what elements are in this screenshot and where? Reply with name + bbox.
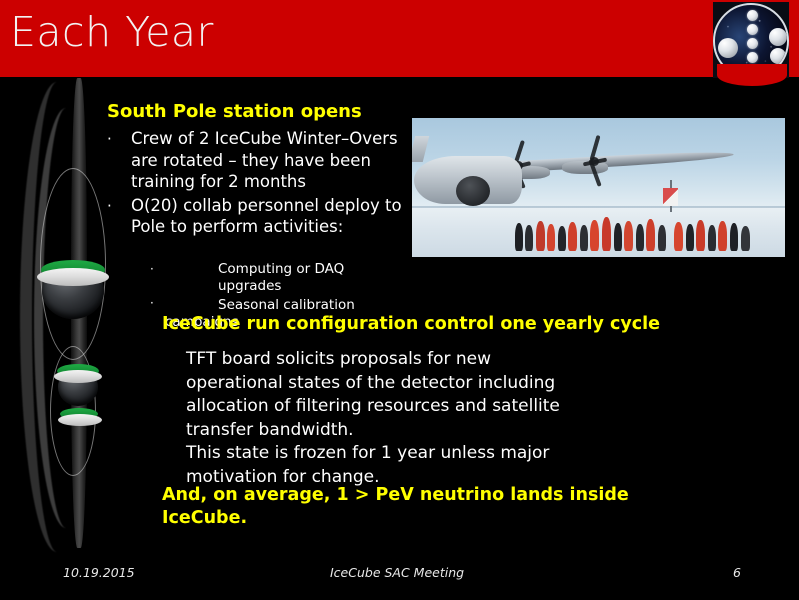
paragraph-line: operational states of the detector inclu… <box>186 372 616 396</box>
marker-flag <box>663 188 678 206</box>
sub-bullet-dot-icon: · <box>150 295 154 312</box>
crowd-person <box>718 221 727 251</box>
crowd-person <box>536 221 545 251</box>
logo-dom-bead <box>747 24 758 35</box>
logo-dom-bead <box>747 38 758 49</box>
closing-line: And, on average, 1 > PeV neutrino lands … <box>162 484 672 507</box>
bullet-list: · Crew of 2 IceCube Winter–Overs are rot… <box>105 128 405 240</box>
crowd-person <box>674 222 683 251</box>
crowd-person <box>730 223 738 251</box>
crowd-person <box>590 220 599 251</box>
closing-statement: And, on average, 1 > PeV neutrino lands … <box>162 484 672 530</box>
crowd-person <box>741 226 750 251</box>
sub-bullet-item: · Computing or DAQ upgrades <box>148 261 408 295</box>
closing-line: IceCube. <box>162 507 672 530</box>
crowd-person <box>568 222 577 251</box>
heading-south-pole-station: South Pole station opens <box>107 101 362 122</box>
bullet-dot-icon: · <box>107 196 112 217</box>
dom-collar-mid <box>54 370 102 383</box>
bullet-item: · O(20) collab personnel deploy to Pole … <box>105 195 405 238</box>
sub-bullet-item: · Seasonal calibration <box>148 295 408 314</box>
logo-swoosh <box>717 64 787 86</box>
dom-collar-lower <box>58 414 102 426</box>
crowd-person <box>558 226 566 251</box>
logo-dom-bead <box>747 10 758 21</box>
sub-bullet-dot-icon: · <box>150 261 154 278</box>
crowd-person <box>515 223 523 251</box>
crowd-person <box>696 220 705 251</box>
crowd-person <box>646 219 655 251</box>
sub-bullet-label: Computing or DAQ upgrades <box>218 261 408 295</box>
logo-dom-large <box>718 38 738 58</box>
logo-dom-large <box>770 48 786 64</box>
paragraph-line: allocation of filtering resources and sa… <box>186 395 616 419</box>
sub-bullet-label: Seasonal calibration <box>218 297 355 314</box>
crowd-person <box>708 225 716 251</box>
crowd-person <box>624 221 633 251</box>
footer-page-number: 6 <box>733 565 741 580</box>
footer-date: 10.19.2015 <box>63 565 135 580</box>
logo-dom-bead <box>747 52 758 63</box>
paragraph-line: This state is frozen for 1 year unless m… <box>186 442 616 466</box>
icecube-logo <box>707 2 795 86</box>
dom-collar-upper <box>37 268 109 286</box>
bullet-dot-icon: · <box>107 129 112 150</box>
aircraft-nose <box>456 176 490 206</box>
crowd-person <box>602 217 611 251</box>
slide: Each Year South Pole stati <box>0 0 799 600</box>
paragraph-tft-board: TFT board solicits proposals for new ope… <box>186 348 616 489</box>
bullet-label: Crew of 2 IceCube Winter–Overs are rotat… <box>131 129 398 191</box>
crowd-person <box>580 225 588 251</box>
paragraph-line: TFT board solicits proposals for new <box>186 348 616 372</box>
bullet-label: O(20) collab personnel deploy to Pole to… <box>131 196 402 237</box>
crowd-person <box>686 224 694 251</box>
photo-horizon <box>412 206 785 208</box>
crowd-person <box>525 225 533 251</box>
photo-lc130-antarctica <box>412 118 785 257</box>
crowd-person <box>658 225 666 251</box>
heading-run-configuration: IceCube run configuration control one ye… <box>162 314 660 334</box>
logo-dom-large <box>769 28 787 46</box>
title-bar: Each Year <box>0 0 799 77</box>
bullet-item: · Crew of 2 IceCube Winter–Overs are rot… <box>105 128 405 193</box>
crowd-person <box>636 224 644 251</box>
crowd-person <box>614 223 622 251</box>
page-title: Each Year <box>10 8 214 56</box>
footer-meeting-name: IceCube SAC Meeting <box>330 565 464 580</box>
paragraph-line: transfer bandwidth. <box>186 419 616 443</box>
crowd-person <box>547 224 555 251</box>
